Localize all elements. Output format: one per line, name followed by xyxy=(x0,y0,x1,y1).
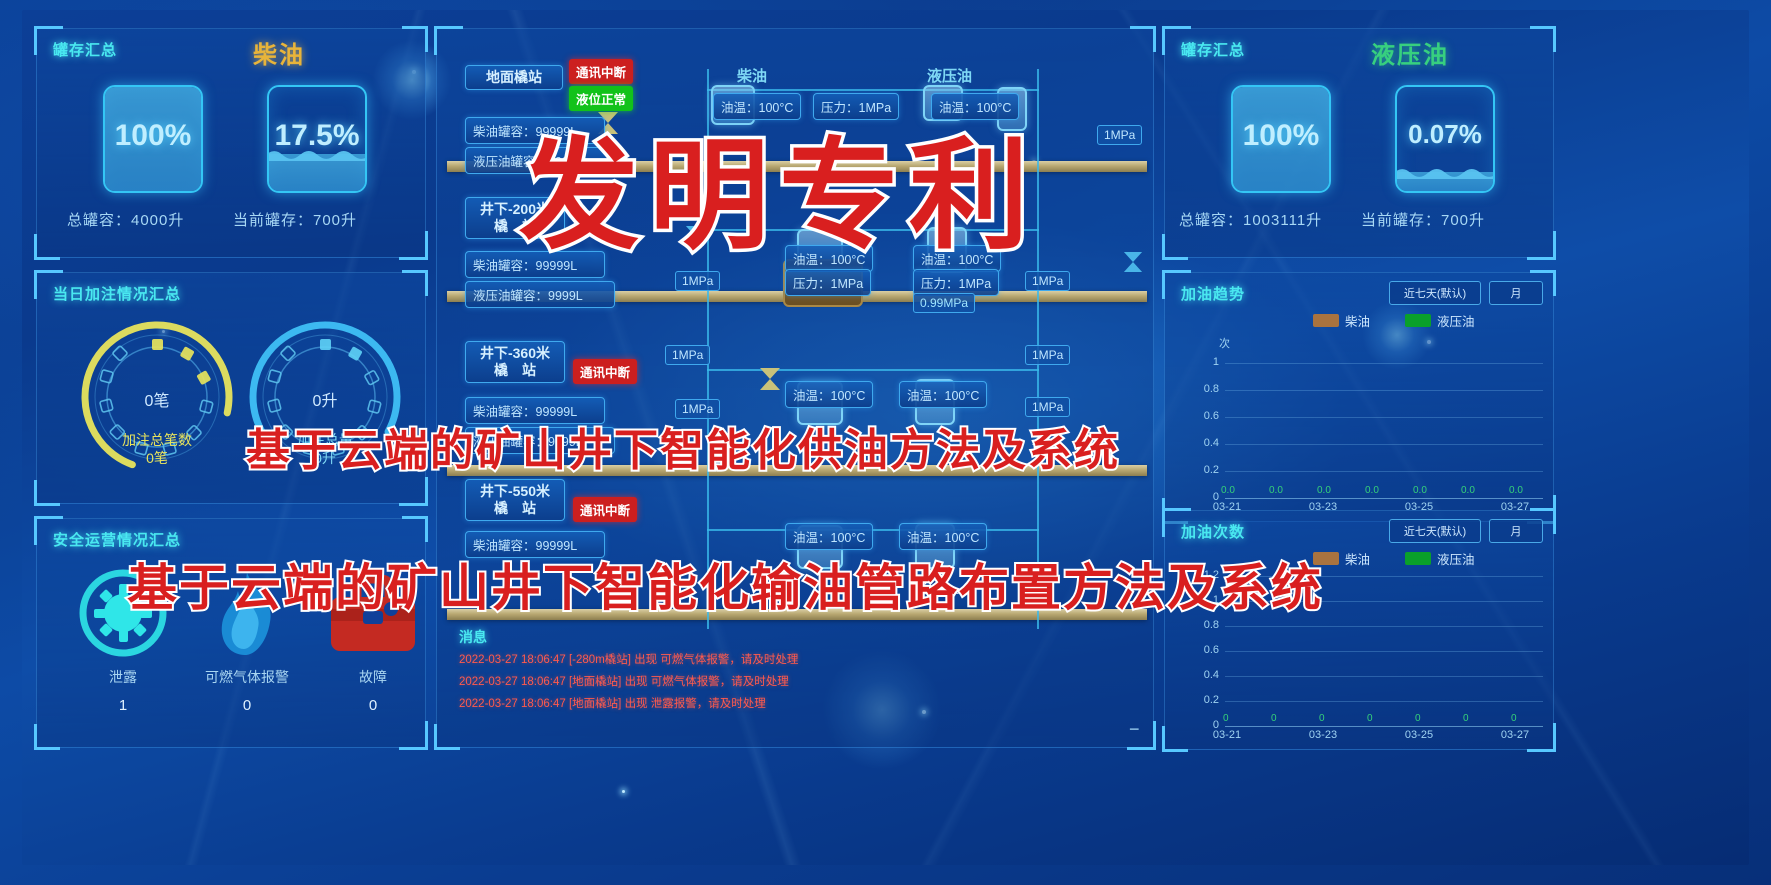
legend-label-hydraulic: 液压油 xyxy=(1437,311,1475,330)
station-name-surface[interactable]: 地面橇站 xyxy=(465,65,563,90)
panel-left-inventory: 罐存汇总 柴油 100% 总罐容：4000升 17.5% 当前罐存：700升 xyxy=(36,28,426,258)
chart-gridline xyxy=(1225,417,1543,418)
range-select-seven-days-trend[interactable]: 近七天(默认) xyxy=(1389,281,1481,305)
legend-item-diesel-trend[interactable]: 柴油 xyxy=(1313,311,1370,330)
chart-point-label: 0 xyxy=(1463,713,1469,724)
chart-point-label: 0.0 xyxy=(1221,485,1235,496)
readout-pressure-3: 压力：1MPa xyxy=(785,269,871,296)
tank-current-right: 0.07% xyxy=(1395,85,1495,193)
chart-xtick: 03-23 xyxy=(1293,729,1353,741)
chart-ytick: 0.4 xyxy=(1187,669,1219,681)
chart-ytick: 1 xyxy=(1187,356,1219,368)
chart-ytick: 0.6 xyxy=(1187,410,1219,422)
gauge-fill-count-sub: 0笔 xyxy=(97,449,217,467)
chart-gridline xyxy=(1225,651,1543,652)
range-select-month-trend[interactable]: 月 xyxy=(1489,281,1543,305)
safety-value-leak: 1 xyxy=(83,697,163,714)
readout-temp-7: 油温：100°C xyxy=(785,523,873,550)
valve-icon xyxy=(759,367,781,391)
station-tank-hydraulic-200m: 液压油罐容：9999L xyxy=(465,281,615,308)
watermark-title: 发明专利 xyxy=(519,98,1039,272)
legend-swatch-hydraulic xyxy=(1405,552,1431,565)
pressure-tag-5: 1MPa xyxy=(1025,345,1070,365)
tank-current-capacity-left: 当前罐存：700升 xyxy=(233,209,357,230)
panel-title-safety: 安全运营情况汇总 xyxy=(53,529,181,550)
safety-label-leak: 泄露 xyxy=(83,667,163,687)
pipe-horizontal xyxy=(707,369,1039,371)
legend-item-hydraulic-trend[interactable]: 液压油 xyxy=(1405,311,1475,330)
watermark-line-1: 基于云端的矿山井下智能化供油方法及系统 xyxy=(246,414,1120,478)
safety-value-gas: 0 xyxy=(187,697,307,714)
range-select-month-count[interactable]: 月 xyxy=(1489,519,1543,543)
tank-current-pct-right: 0.07% xyxy=(1397,119,1493,150)
readout-pressure-4: 压力：1MPa xyxy=(913,269,999,296)
wave-icon xyxy=(1395,165,1495,179)
tank-total-capacity-left: 总罐容：4000升 xyxy=(67,209,184,230)
panel-refuel-count: 加油次数 近七天(默认) 月 柴油 液压油 0 0.2 0.4 0.6 0.8 … xyxy=(1164,510,1554,750)
inventory-category-diesel: 柴油 xyxy=(253,35,305,70)
station-badge-comm-360m: 通讯中断 xyxy=(573,359,637,384)
safety-label-fault: 故障 xyxy=(333,667,413,687)
chart-gridline xyxy=(1225,444,1543,445)
station-name-550m[interactable]: 井下-550米 橇 站 xyxy=(465,479,565,521)
star-decor xyxy=(622,790,625,793)
inventory-category-hydraulic: 液压油 xyxy=(1371,35,1449,70)
station-name-360m[interactable]: 井下-360米 橇 站 xyxy=(465,341,565,383)
legend-label-diesel: 柴油 xyxy=(1345,311,1370,330)
gauge-fill-volume-value: 0升 xyxy=(245,387,405,411)
chart-gridline xyxy=(1225,626,1543,627)
chart-xtick: 03-25 xyxy=(1389,729,1449,741)
chart-point-label: 0 xyxy=(1367,713,1373,724)
chart-xaxis xyxy=(1225,498,1543,499)
chart-point-label: 0 xyxy=(1319,713,1325,724)
panel-title-refuel-trend: 加油趋势 xyxy=(1181,283,1245,304)
chart-point-label: 0.0 xyxy=(1461,485,1475,496)
tank-total-right: 100% xyxy=(1231,85,1331,193)
chart-point-label: 0.0 xyxy=(1365,485,1379,496)
station-badge-comm-550m: 通讯中断 xyxy=(573,497,637,522)
chart-point-label: 0.0 xyxy=(1317,485,1331,496)
chart-gridline xyxy=(1225,363,1543,364)
tank-current-capacity-right: 当前罐存：700升 xyxy=(1361,209,1485,230)
column-header-hydraulic: 液压油 xyxy=(927,65,972,86)
chart-point-label: 0 xyxy=(1511,713,1517,724)
chart-point-label: 0.0 xyxy=(1413,485,1427,496)
chart-ylabel-trend: 次 xyxy=(1219,335,1230,351)
valve-icon xyxy=(1123,251,1143,273)
tank-total-pct-left: 100% xyxy=(105,119,201,153)
tank-current-left: 17.5% xyxy=(267,85,367,193)
watermark-line-2: 基于云端的矿山井下智能化输油管路布置方法及系统 xyxy=(127,548,1323,620)
message-log-title: 消息 xyxy=(459,627,487,647)
pressure-tag-4: 1MPa xyxy=(665,345,710,365)
tank-total-pct-right: 100% xyxy=(1233,119,1329,153)
panel-right-inventory: 罐存汇总 液压油 100% 总罐容：1003111升 0.07% 当前罐存：70… xyxy=(1164,28,1554,258)
column-header-diesel: 柴油 xyxy=(737,65,767,86)
readout-temp-8: 油温：100°C xyxy=(899,523,987,550)
chart-ytick: 0.2 xyxy=(1187,694,1219,706)
pressure-tag-2: 1MPa xyxy=(675,271,720,291)
tank-current-pct-left: 17.5% xyxy=(269,119,365,153)
chart-point-label: 0 xyxy=(1223,713,1229,724)
legend-label-hydraulic: 液压油 xyxy=(1437,549,1475,568)
chart-point-label: 0 xyxy=(1415,713,1421,724)
gauge-fill-count-value: 0笔 xyxy=(77,387,237,411)
chart-ytick: 0.2 xyxy=(1187,464,1219,476)
readout-temp-6: 油温：100°C xyxy=(899,381,987,408)
panel-title-daily-fill: 当日加注情况汇总 xyxy=(53,283,181,304)
pressure-tag-3: 1MPa xyxy=(1025,271,1070,291)
panel-title-refuel-count: 加油次数 xyxy=(1181,521,1245,542)
panel-refuel-trend: 加油趋势 近七天(默认) 月 柴油 液压油 次 0 0.2 0.4 0.6 0.… xyxy=(1164,272,1554,522)
collapse-button[interactable]: − xyxy=(1129,719,1140,740)
message-log-line: 2022-03-27 18:06:47 [-280m橇站] 出现 可燃气体报警，… xyxy=(459,651,798,667)
safety-value-fault: 0 xyxy=(333,697,413,714)
legend-swatch-diesel xyxy=(1313,314,1339,327)
chart-xtick: 03-21 xyxy=(1197,729,1257,741)
panel-title-inventory-left: 罐存汇总 xyxy=(53,39,117,60)
readout-temp-5: 油温：100°C xyxy=(785,381,873,408)
dashboard-inner: 罐存汇总 柴油 100% 总罐容：4000升 17.5% 当前罐存：700升 当… xyxy=(22,10,1749,865)
chart-point-label: 0 xyxy=(1271,713,1277,724)
chart-gridline xyxy=(1225,390,1543,391)
message-log-line: 2022-03-27 18:06:47 [地面橇站] 出现 泄露报警，请及时处理 xyxy=(459,695,766,711)
tank-fill-current-left xyxy=(269,154,365,191)
chart-xaxis xyxy=(1225,726,1543,727)
pipe-horizontal xyxy=(707,89,1039,91)
tank-total-left: 100% xyxy=(103,85,203,193)
message-log-line: 2022-03-27 18:06:47 [地面橇站] 出现 可燃气体报警，请及时… xyxy=(459,673,789,689)
legend-label-diesel: 柴油 xyxy=(1345,549,1370,568)
chart-ytick: 0.8 xyxy=(1187,619,1219,631)
chart-gridline xyxy=(1225,471,1543,472)
chart-point-label: 0.0 xyxy=(1509,485,1523,496)
chart-ytick: 0.6 xyxy=(1187,644,1219,656)
chart-ytick: 0.4 xyxy=(1187,437,1219,449)
dashboard-screen: 罐存汇总 柴油 100% 总罐容：4000升 17.5% 当前罐存：700升 当… xyxy=(0,0,1771,885)
pressure-tag-099: 0.99MPa xyxy=(913,293,975,313)
chart-gridline xyxy=(1225,701,1543,702)
gauge-fill-count-label: 加注总笔数 xyxy=(97,431,217,449)
legend-item-hydraulic-count[interactable]: 液压油 xyxy=(1405,549,1475,568)
safety-label-gas: 可燃气体报警 xyxy=(187,667,307,687)
chart-point-label: 0.0 xyxy=(1269,485,1283,496)
range-select-seven-days-count[interactable]: 近七天(默认) xyxy=(1389,519,1481,543)
legend-swatch-hydraulic xyxy=(1405,314,1431,327)
tank-fill-current-right xyxy=(1397,172,1493,191)
chart-xtick: 03-27 xyxy=(1485,729,1545,741)
chart-ytick: 0.8 xyxy=(1187,383,1219,395)
panel-title-inventory-right: 罐存汇总 xyxy=(1181,39,1245,60)
chart-gridline xyxy=(1225,676,1543,677)
tank-total-capacity-right: 总罐容：1003111升 xyxy=(1179,209,1322,230)
station-badge-comm-surface: 通讯中断 xyxy=(569,59,633,84)
